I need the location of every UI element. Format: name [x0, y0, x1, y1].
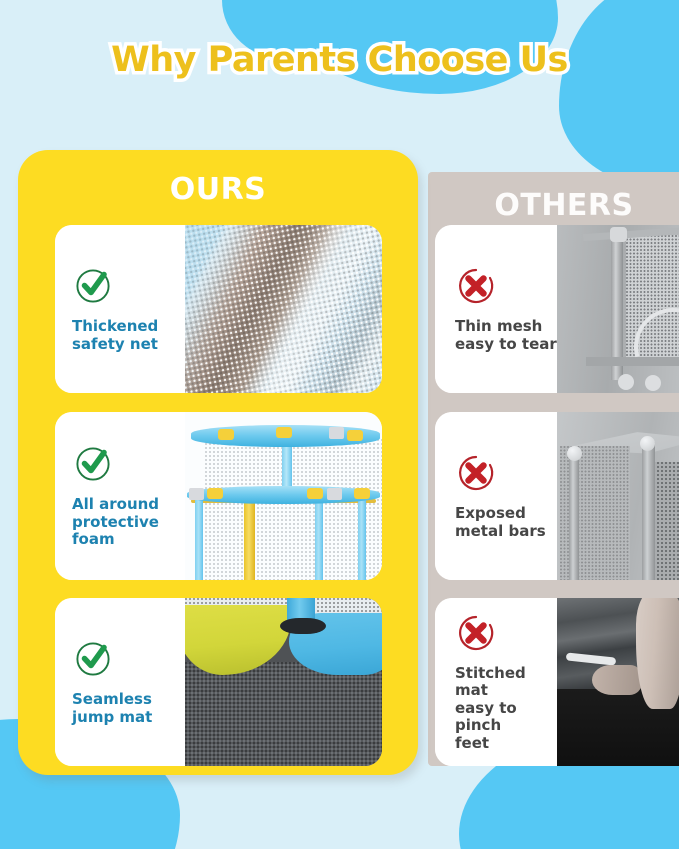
joint-ball [567, 446, 582, 461]
others-card-thin-mesh: Thin mesh easy to tear [435, 225, 679, 393]
metal-joint [329, 427, 344, 439]
blob-top-right-icon [559, 0, 679, 190]
ours-card-text: All around protective foam [55, 412, 185, 580]
joint-ball [640, 436, 655, 451]
exposed-metal-bars-photo [557, 412, 679, 580]
pole-cap [610, 227, 627, 242]
ours-card-jump-mat: Seamless jump mat [55, 598, 382, 766]
others-card-text: Stitched mat easy to pinch feet [435, 598, 557, 766]
metal-bar [642, 442, 655, 580]
ours-heading: OURS [18, 150, 418, 207]
foot-pad [618, 374, 634, 390]
trampoline-thick-safety-net-photo [185, 225, 382, 393]
trampoline-protective-foam-photo [185, 412, 382, 580]
trampoline-seamless-jump-mat-photo [185, 598, 382, 766]
page-title: Why Parents Choose Us [0, 40, 679, 80]
check-circle-icon [72, 265, 185, 312]
others-heading: OTHERS [440, 172, 679, 223]
strap [307, 488, 323, 499]
foam-covered-post [315, 496, 323, 580]
check-circle-icon [72, 638, 185, 685]
metal-bar [569, 452, 579, 580]
foam-covered-post [358, 496, 366, 580]
ours-card-safety-net: Thickened safety net [55, 225, 382, 393]
others-card-metal-bars: Exposed metal bars [435, 412, 679, 580]
ours-card-label: All around protective foam [72, 496, 185, 548]
toes [592, 665, 642, 695]
mesh-enclosure [205, 439, 382, 580]
post-collar [280, 618, 326, 634]
others-card-text: Exposed metal bars [435, 412, 557, 580]
ours-card-label: Thickened safety net [72, 318, 185, 353]
foam-covered-post [195, 493, 203, 580]
metal-joint [327, 488, 342, 500]
metal-joint [189, 488, 204, 500]
ours-card-protective-foam: All around protective foam [55, 412, 382, 580]
leg-and-foot [636, 598, 679, 709]
others-card-label: Stitched mat easy to pinch feet [455, 665, 557, 752]
stitched-mat-pinched-feet-photo [557, 598, 679, 766]
others-card-text: Thin mesh easy to tear [435, 225, 557, 393]
strap [354, 488, 370, 499]
x-circle-icon [455, 612, 557, 659]
x-circle-icon [455, 265, 557, 312]
strap [276, 427, 292, 438]
strap [347, 430, 363, 441]
others-card-label: Exposed metal bars [455, 505, 557, 540]
strap [218, 429, 234, 440]
check-circle-icon [72, 443, 185, 490]
jump-mat [185, 662, 382, 766]
ours-card-text: Seamless jump mat [55, 598, 185, 766]
thin-mesh-net-photo [557, 225, 679, 393]
others-card-label: Thin mesh easy to tear [455, 318, 557, 353]
ours-panel: OURS Thickened safety net All around pro… [18, 150, 418, 775]
ours-card-text: Thickened safety net [55, 225, 185, 393]
others-card-stitched-mat: Stitched mat easy to pinch feet [435, 598, 679, 766]
support-pole [244, 496, 255, 580]
foot-pad [645, 375, 661, 391]
others-panel: OTHERS Thin mesh easy to tear [428, 172, 679, 766]
ours-card-label: Seamless jump mat [72, 691, 185, 726]
x-circle-icon [455, 452, 557, 499]
strap [207, 488, 223, 499]
